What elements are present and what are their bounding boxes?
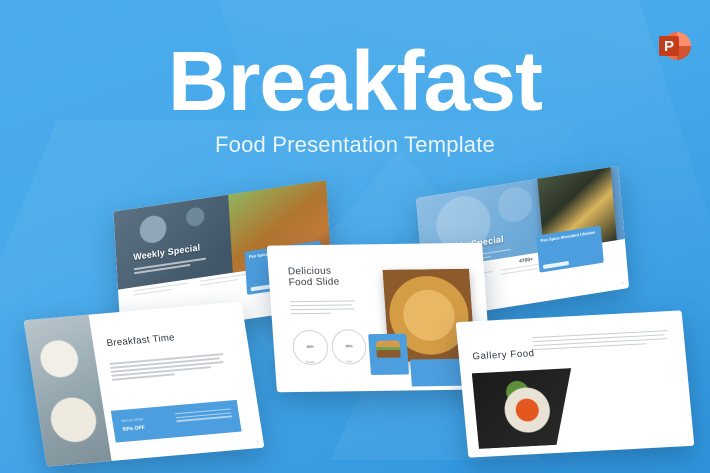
page-title: Breakfast: [0, 40, 710, 122]
slide-title: Gallery Food: [472, 348, 535, 362]
offer-banner-label: SPECIAL OFFER: [121, 418, 144, 424]
slide-title: Delicious Food Slide: [288, 265, 341, 289]
donut-caption: Taste: [333, 359, 366, 363]
slide-delicious-food[interactable]: Delicious Food Slide 80% Quality 90% Tas…: [267, 243, 493, 393]
page-subtitle: Food Presentation Template: [0, 132, 710, 158]
gallery-image-right: [567, 362, 683, 444]
slide-breakfast-time[interactable]: Breakfast Time SPECIAL OFFER 50% OFF 5: [24, 301, 265, 466]
read-more-button[interactable]: [543, 261, 569, 269]
burger-icon: [376, 341, 401, 358]
burger-badge-card[interactable]: [368, 333, 410, 375]
donut-value: 80%: [307, 345, 314, 349]
poster-canvas: P Breakfast Food Presentation Template W…: [0, 0, 710, 473]
offer-banner[interactable]: SPECIAL OFFER 50% OFF: [111, 400, 242, 443]
hero-text-block: Breakfast Food Presentation Template: [0, 40, 710, 158]
svg-text:P: P: [664, 38, 674, 55]
slide-title: Breakfast Time: [106, 332, 176, 349]
slide-paragraph: [290, 300, 356, 317]
slide-paragraph: [110, 353, 226, 383]
page-number: 4: [622, 281, 624, 285]
gallery-image-left: [472, 368, 579, 449]
slide-title-line2: Food Slide: [288, 277, 340, 289]
page-number: 5: [256, 440, 259, 444]
powerpoint-icon: P: [655, 26, 695, 66]
offer-banner-value: 50% OFF: [122, 425, 145, 433]
slide-breakfast-image: [24, 315, 112, 467]
slide-title-line1: Delicious: [288, 265, 332, 277]
slide-gallery-food[interactable]: Gallery Food 7: [456, 310, 695, 457]
offer-banner-lines: [175, 409, 232, 424]
donut-value: 90%: [345, 345, 352, 349]
page-number: 7: [687, 438, 689, 442]
donut-caption: Quality: [294, 359, 327, 363]
slide-paragraph: [532, 330, 669, 353]
